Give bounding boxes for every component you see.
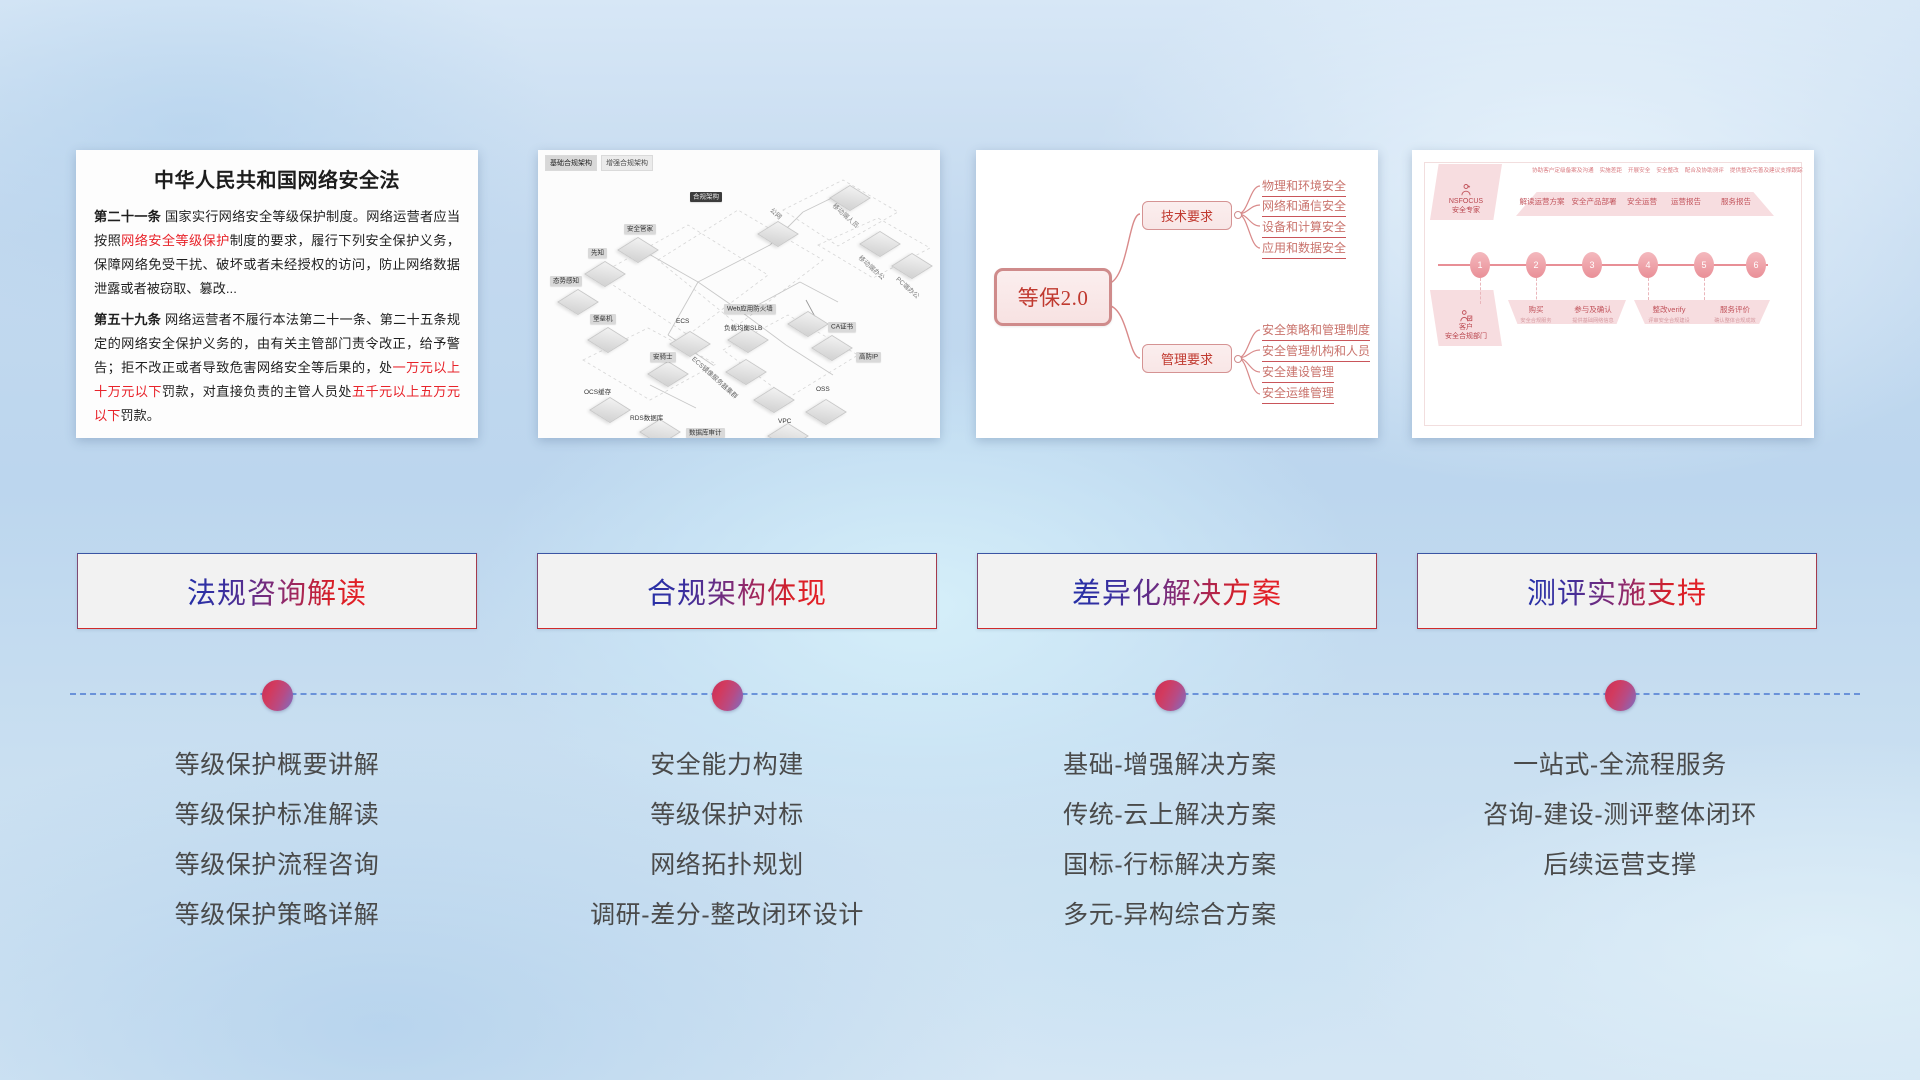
list-item-2-1: 传统-云上解决方案: [960, 790, 1380, 840]
iso-cube-oss: [814, 400, 838, 424]
card-cybersecurity-law[interactable]: 中华人民共和国网络安全法 第二十一条 国家实行网络安全等级保护制度。网络运营者应…: [76, 150, 478, 438]
law-article-59-post: 罚款。: [120, 408, 160, 423]
mindmap-branch-technical-dot: [1234, 211, 1242, 219]
iso-label-situation-awareness: 态势感知: [550, 274, 582, 284]
roadmap-down-item-0-sub: 安全合规服务: [1510, 317, 1562, 324]
timeline: [0, 650, 1920, 706]
law-title: 中华人民共和国网络安全法: [94, 164, 460, 193]
list-item-3-1: 咨询-建设-测评整体闭环: [1410, 790, 1830, 840]
iso-cube-vpc: [776, 424, 800, 438]
roadmap-down-item-3-title: 服务评价: [1720, 305, 1750, 314]
iso-cube-rds: [648, 420, 672, 438]
roadmap-tick-1: [1480, 278, 1482, 304]
iso-cube-situation-awareness: [566, 290, 590, 314]
iso-label-slb: 负载均衡SLB: [724, 322, 762, 332]
list-item-1-2: 网络拓扑规划: [517, 840, 937, 890]
roadmap-diagram: NSFOCUS 安全专家 客户 安全合规部门 协助客户定级备案及沟通 实施差距 …: [1412, 150, 1814, 438]
title-label-0: 法规咨询解读: [187, 570, 367, 612]
iso-label-high-defense-ip: 高防IP: [856, 350, 881, 360]
mindmap-branch-management[interactable]: 管理要求: [1142, 344, 1232, 373]
list-item-1-3: 调研-差分-整改闭环设计: [517, 890, 937, 940]
mindmap-leaf-ops-mgmt: 安全运维管理: [1262, 384, 1334, 404]
iso-cube-waf: [796, 312, 820, 336]
iso-cube-pc-office: [900, 254, 924, 278]
list-column-regulation-consulting: 等级保护概要讲解 等级保护标准解读 等级保护流程咨询 等级保护策略详解: [67, 740, 487, 940]
iso-label-security-butler: 安全管家: [624, 222, 656, 232]
roadmap-up-item-2: 安全运营: [1620, 196, 1664, 207]
iso-cube-bastion-host: [596, 328, 620, 352]
list-column-compliance-architecture: 安全能力构建 等级保护对标 网络拓扑规划 调研-差分-整改闭环设计: [517, 740, 937, 940]
list-item-3-2: 后续运营支撑: [1410, 840, 1830, 890]
iso-label-ocs: OCS缓存: [584, 386, 611, 396]
mindmap-leaf-construction-mgmt: 安全建设管理: [1262, 363, 1334, 383]
law-article-59: 第五十九条 网络运营者不履行本法第二十一条、第二十五条规定的网络安全保护义务的，…: [94, 308, 460, 428]
timeline-dot-2[interactable]: [712, 680, 743, 711]
list-item-1-1: 等级保护对标: [517, 790, 937, 840]
law-article-59-mid: 罚款，对直接负责的主管人员处: [162, 384, 352, 399]
roadmap-down-item-0-title: 购买: [1529, 305, 1544, 314]
timeline-dot-3[interactable]: [1155, 680, 1186, 711]
roadmap-up-item-2-title: 安全运营: [1627, 197, 1657, 206]
iso-cube-ecs: [678, 332, 702, 356]
iso-label-bastion-host: 堡垒机: [590, 312, 616, 322]
roadmap-tag-4: 配合及协助测评: [1685, 166, 1724, 174]
roadmap-tag-2: 开展安全: [1628, 166, 1650, 174]
roadmap-down-item-0: 购买 安全合规服务: [1510, 304, 1562, 324]
law-article-21: 第二十一条 国家实行网络安全等级保护制度。网络运营者应当按照网络安全等级保护制度…: [94, 205, 460, 301]
mindmap: 等保2.0 技术要求 物理和环境安全 网络和通信安全 设备和计算安全 应用和数据…: [976, 150, 1378, 438]
roadmap-tag-5: 提供整改完善及建议支撑跟踪: [1730, 166, 1803, 174]
iso-label-anqishi: 安骑士: [650, 350, 676, 360]
roadmap-step-6[interactable]: 6: [1746, 252, 1766, 278]
iso-cube-xianzhi: [593, 262, 617, 286]
title-label-3: 测评实施支持: [1527, 570, 1707, 612]
roadmap-expert-badge: NSFOCUS 安全专家: [1430, 164, 1502, 220]
timeline-dashed-line: [70, 693, 1860, 695]
roadmap-customer-title: 客户: [1459, 323, 1473, 332]
roadmap-tick-4: [1648, 278, 1650, 300]
mindmap-branch-technical[interactable]: 技术要求: [1142, 201, 1232, 230]
iso-cube-security-butler: [626, 238, 650, 262]
roadmap-down-item-1-title: 参与及确认: [1574, 305, 1612, 314]
card-nsfocus-roadmap[interactable]: NSFOCUS 安全专家 客户 安全合规部门 协助客户定级备案及沟通 实施差距 …: [1412, 150, 1814, 438]
list-column-assessment-support: 一站式-全流程服务 咨询-建设-测评整体闭环 后续运营支撑: [1410, 740, 1830, 890]
cards-row: 中华人民共和国网络安全法 第二十一条 国家实行网络安全等级保护制度。网络运营者应…: [0, 150, 1920, 440]
iso-label-title-chip: 合规架构: [690, 190, 722, 200]
roadmap-step-2[interactable]: 2: [1526, 252, 1546, 278]
card-mindmap-dengbao[interactable]: 等保2.0 技术要求 物理和环境安全 网络和通信安全 设备和计算安全 应用和数据…: [976, 150, 1378, 438]
roadmap-step-1[interactable]: 1: [1470, 252, 1490, 278]
title-box-assessment-support[interactable]: 测评实施支持: [1417, 553, 1817, 629]
roadmap-expert-sub: 安全专家: [1452, 206, 1480, 215]
roadmap-tag-1: 实施差距: [1600, 166, 1622, 174]
roadmap-up-item-3-title: 运营报告: [1671, 197, 1701, 206]
title-box-differentiated-solution[interactable]: 差异化解决方案: [977, 553, 1377, 629]
roadmap-tag-0: 协助客户定级备案及沟通: [1532, 166, 1594, 174]
roadmap-up-item-3: 运营报告: [1664, 196, 1708, 207]
roadmap-step-3[interactable]: 3: [1582, 252, 1602, 278]
list-item-1-0: 安全能力构建: [517, 740, 937, 790]
architecture-diagram: 基础合规架构 增强合规架构: [538, 150, 940, 438]
mindmap-branch-management-dot: [1234, 355, 1242, 363]
expert-person-icon: [1459, 183, 1473, 197]
section-titles: 法规咨询解读 合规架构体现 差异化解决方案 测评实施支持: [0, 553, 1920, 631]
title-label-2: 差异化解决方案: [1072, 570, 1282, 612]
iso-label-oss: OSS: [816, 386, 830, 393]
law-article-21-label: 第二十一条: [94, 209, 161, 224]
mindmap-leaf-device-compute: 设备和计算安全: [1262, 218, 1346, 238]
roadmap-tick-5: [1704, 278, 1706, 300]
roadmap-customer-badge: 客户 安全合规部门: [1430, 290, 1502, 346]
roadmap-step-5[interactable]: 5: [1694, 252, 1714, 278]
title-box-compliance-architecture[interactable]: 合规架构体现: [537, 553, 937, 629]
mindmap-leaf-network-comm: 网络和通信安全: [1262, 197, 1346, 217]
mindmap-leaf-policy-system: 安全策略和管理制度: [1262, 321, 1370, 341]
roadmap-up-item-1: 安全产品部署: [1568, 196, 1620, 207]
roadmap-step-4[interactable]: 4: [1638, 252, 1658, 278]
roadmap-expert-title: NSFOCUS: [1449, 197, 1483, 206]
roadmap-up-item-4-title: 服务报告: [1721, 197, 1751, 206]
roadmap-up-item-0: 解读运营方案: [1516, 196, 1568, 207]
mindmap-root-node[interactable]: 等保2.0: [994, 268, 1112, 326]
mindmap-leaf-app-data: 应用和数据安全: [1262, 239, 1346, 259]
iso-cube-cluster-b: [762, 388, 786, 412]
law-article-59-label: 第五十九条: [94, 312, 161, 327]
list-item-0-3: 等级保护策略详解: [67, 890, 487, 940]
law-article-21-highlight: 网络安全等级保护: [121, 233, 230, 248]
roadmap-down-item-2-title: 整改verify: [1653, 305, 1686, 314]
list-item-2-0: 基础-增强解决方案: [960, 740, 1380, 790]
list-item-0-2: 等级保护流程咨询: [67, 840, 487, 890]
title-label-1: 合规架构体现: [647, 570, 827, 612]
title-box-regulation-consulting[interactable]: 法规咨询解读: [77, 553, 477, 629]
roadmap-down-item-2-sub: 评审安全合规建设: [1638, 317, 1700, 324]
list-item-0-1: 等级保护标准解读: [67, 790, 487, 840]
iso-label-ecs: ECS: [676, 318, 689, 325]
roadmap-down-item-3-sub: 确认整体合规成效: [1704, 317, 1766, 324]
list-item-2-2: 国标-行标解决方案: [960, 840, 1380, 890]
roadmap-up-item-1-title: 安全产品部署: [1572, 197, 1617, 206]
iso-cube-internet: [766, 222, 790, 246]
list-item-3-0: 一站式-全流程服务: [1410, 740, 1830, 790]
iso-label-db-audit: 数据库审计: [686, 426, 725, 436]
timeline-dot-1[interactable]: [262, 680, 293, 711]
customer-person-icon: [1459, 309, 1473, 323]
iso-cube-mobile-office: [868, 232, 892, 256]
roadmap-down-item-1: 参与及确认 提供基础网络信息: [1562, 304, 1624, 324]
roadmap-tag-3: 安全整改: [1656, 166, 1678, 174]
roadmap-down-item-2: 整改verify 评审安全合规建设: [1638, 304, 1700, 324]
roadmap-customer-sub: 安全合规部门: [1445, 332, 1487, 341]
list-item-2-3: 多元-异构综合方案: [960, 890, 1380, 940]
law-document: 中华人民共和国网络安全法 第二十一条 国家实行网络安全等级保护制度。网络运营者应…: [76, 150, 478, 438]
roadmap-down-item-1-sub: 提供基础网络信息: [1562, 317, 1624, 324]
iso-cube-ocs: [598, 398, 622, 422]
roadmap-down-item-3: 服务评价 确认整体合规成效: [1704, 304, 1766, 324]
card-compliance-architecture[interactable]: 基础合规架构 增强合规架构: [538, 150, 940, 438]
iso-label-xianzhi: 先知: [588, 246, 607, 256]
roadmap-up-item-4: 服务报告: [1712, 196, 1760, 207]
mindmap-leaf-physical-env: 物理和环境安全: [1262, 177, 1346, 197]
iso-label-ca-cert: CA证书: [828, 320, 856, 330]
iso-cube-cluster-a: [734, 360, 758, 384]
timeline-dot-4[interactable]: [1605, 680, 1636, 711]
iso-label-rds: RDS数据库: [630, 412, 663, 422]
iso-label-vpc: VPC: [778, 418, 791, 425]
iso-cube-anqishi: [656, 362, 680, 386]
iso-label-waf: Web应用防火墙: [724, 302, 776, 312]
mindmap-leaf-org-personnel: 安全管理机构和人员: [1262, 342, 1370, 362]
list-column-differentiated-solution: 基础-增强解决方案 传统-云上解决方案 国标-行标解决方案 多元-异构综合方案: [960, 740, 1380, 940]
roadmap-top-tags: 协助客户定级备案及沟通 实施差距 开展安全 安全整改 配合及协助测评 提供整改完…: [1532, 166, 1803, 174]
iso-cube-high-defense-ip: [820, 336, 844, 360]
roadmap-up-item-0-title: 解读运营方案: [1520, 197, 1565, 206]
list-item-0-0: 等级保护概要讲解: [67, 740, 487, 790]
